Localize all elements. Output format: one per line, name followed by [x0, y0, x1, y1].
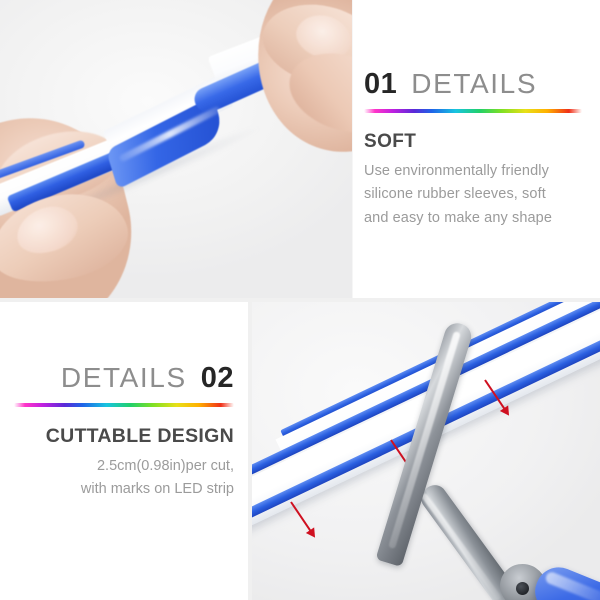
detail-panel-01: 01 DETAILS SOFT Use environmentally frie…	[352, 0, 600, 298]
detail-01-title-row: 01 DETAILS	[364, 70, 582, 99]
detail-01-body-line: Use environmentally friendly	[364, 160, 582, 183]
detail-01-body-line: silicone rubber sleeves, soft	[364, 183, 582, 206]
detail-01-heading: SOFT	[364, 131, 582, 153]
detail-02-body: 2.5cm(0.98in)per cut, with marks on LED …	[14, 455, 234, 502]
detail-01-label: DETAILS	[411, 70, 537, 98]
photo-cutting-demo	[252, 302, 600, 600]
panel-divider-vertical-top	[352, 0, 353, 298]
rgb-gradient-rule-01	[364, 109, 582, 113]
rgb-gradient-rule-02	[14, 403, 234, 407]
photo-flexibility-demo	[0, 0, 352, 298]
detail-02-heading: CUTTABLE DESIGN	[14, 425, 234, 448]
detail-02-body-line: with marks on LED strip	[14, 478, 234, 501]
detail-02-label: DETAILS	[61, 364, 187, 392]
detail-panel-02: DETAILS 02 CUTTABLE DESIGN 2.5cm(0.98in)…	[0, 302, 248, 600]
detail-01-body-line: and easy to make any shape	[364, 207, 582, 230]
product-detail-collage: 01 DETAILS SOFT Use environmentally frie…	[0, 0, 600, 600]
detail-02-body-line: 2.5cm(0.98in)per cut,	[14, 455, 234, 478]
panel-divider-horizontal	[0, 298, 600, 302]
detail-01-number: 01	[364, 70, 397, 99]
detail-02-number: 02	[201, 364, 234, 393]
panel-divider-vertical-bottom	[248, 302, 252, 600]
detail-01-body: Use environmentally friendly silicone ru…	[364, 160, 582, 230]
detail-02-title-row: DETAILS 02	[14, 364, 234, 393]
scissors-pivot-screw	[516, 582, 529, 595]
